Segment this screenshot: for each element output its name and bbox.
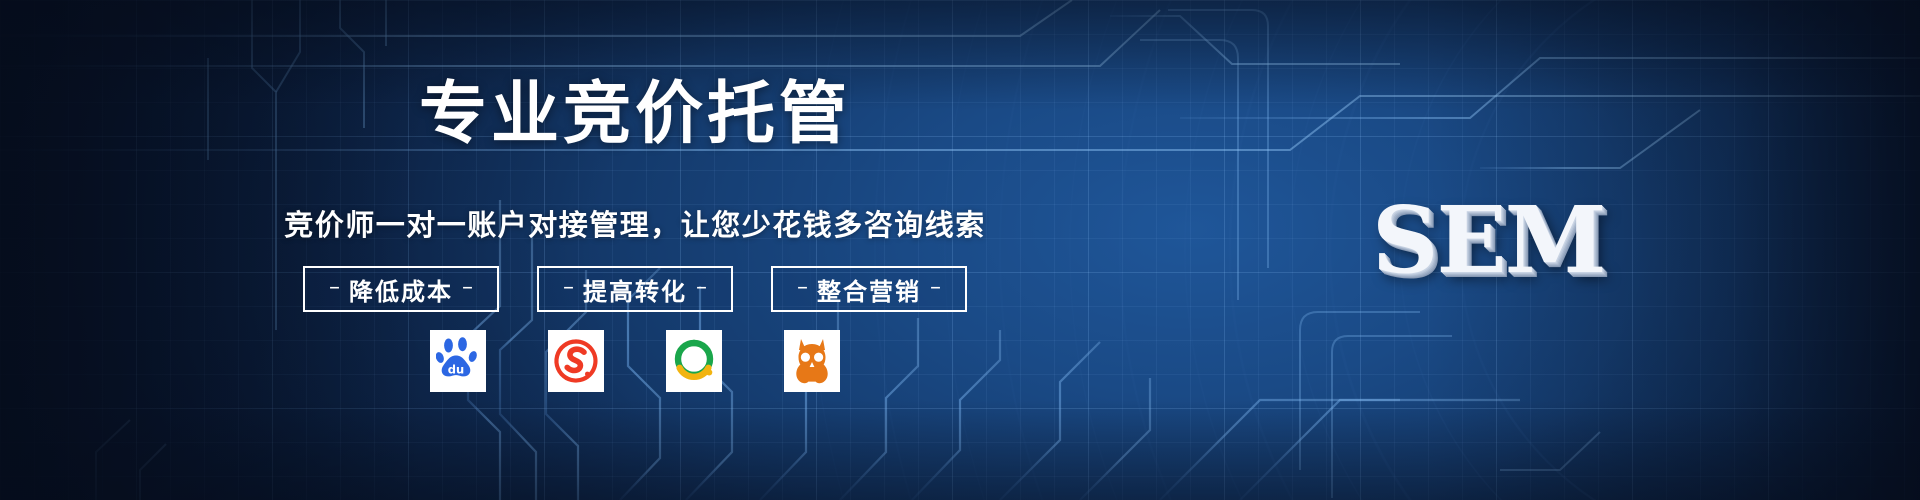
badge-label: 提高转化 — [583, 272, 687, 307]
badge-dash-right: – — [696, 277, 707, 299]
sogou-logo[interactable] — [548, 330, 604, 392]
badge-label: 降低成本 — [349, 272, 453, 307]
sem-wordmark: SEM — [1372, 186, 1604, 294]
so360-logo[interactable] — [666, 330, 722, 392]
shenma-horse-icon — [790, 336, 834, 386]
platform-logo-list: du — [0, 330, 1270, 392]
sem-hosting-banner: 专业竞价托管 竞价师一对一账户对接管理，让您少花钱多咨询线索 – 降低成本 – … — [0, 0, 1920, 500]
baidu-paw-icon: du — [436, 337, 480, 385]
badge-dash-right: – — [930, 277, 941, 299]
badge-dash-left: – — [329, 277, 340, 299]
banner-subtitle: 竞价师一对一账户对接管理，让您少花钱多咨询线索 — [0, 202, 1270, 244]
so360-ring-icon — [671, 338, 717, 384]
feature-badge-conversion[interactable]: – 提高转化 – — [537, 266, 733, 312]
badge-dash-right: – — [462, 277, 473, 299]
badge-label: 整合营销 — [817, 272, 921, 307]
shenma-logo[interactable] — [784, 330, 840, 392]
feature-badge-list: – 降低成本 – – 提高转化 – – 整合营销 – — [0, 266, 1270, 312]
banner-content: 专业竞价托管 竞价师一对一账户对接管理，让您少花钱多咨询线索 – 降低成本 – … — [0, 0, 1920, 500]
page-title: 专业竞价托管 — [0, 58, 1270, 157]
feature-badge-cost[interactable]: – 降低成本 – — [303, 266, 499, 312]
baidu-logo[interactable]: du — [430, 330, 486, 392]
svg-text:du: du — [448, 362, 464, 376]
badge-dash-left: – — [563, 277, 574, 299]
sogou-s-icon — [553, 338, 599, 384]
feature-badge-marketing[interactable]: – 整合营销 – — [771, 266, 967, 312]
badge-dash-left: – — [797, 277, 808, 299]
